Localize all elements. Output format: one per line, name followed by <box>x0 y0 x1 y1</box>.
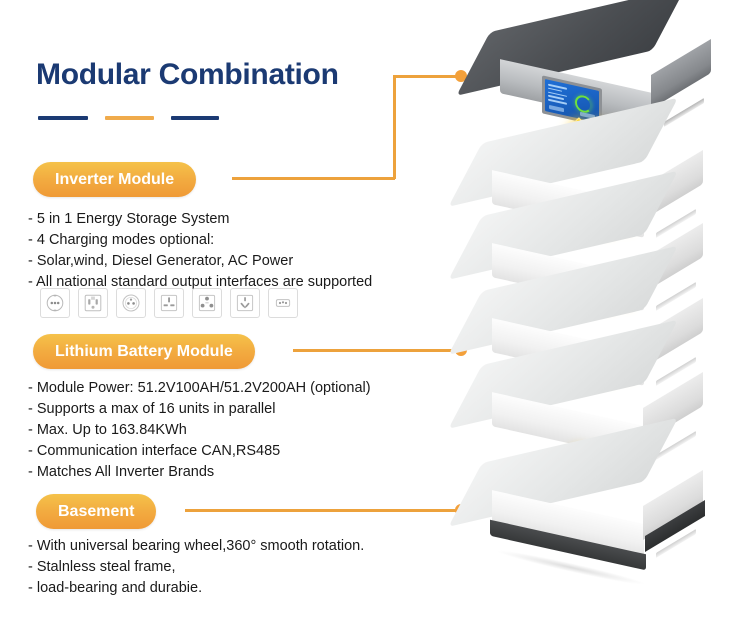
title-rule-group <box>38 116 219 120</box>
product-stack-illustration <box>470 0 750 626</box>
slide-root: Modular Combination Inverter Module - 5 … <box>0 0 750 626</box>
rule-amber-middle <box>105 116 154 120</box>
bullet-line: - Supports a max of 16 units in parallel <box>28 399 371 420</box>
connector-line-horizontal <box>232 177 395 180</box>
bullet-line: - load-bearing and durabie. <box>28 578 364 599</box>
socket-europlug-icon <box>116 288 146 318</box>
socket-nema-icon <box>78 288 108 318</box>
socket-icon-row <box>40 288 298 318</box>
socket-india-icon <box>192 288 222 318</box>
bullet-line: - Max. Up to 163.84KWh <box>28 420 371 441</box>
bullet-line: - 4 Charging modes optional: <box>28 230 372 251</box>
socket-schuko-icon <box>40 288 70 318</box>
rule-navy-left <box>38 116 88 120</box>
bullet-line: - 5 in 1 Energy Storage System <box>28 209 372 230</box>
lcd-text-rows <box>548 84 567 105</box>
section-text-basement: - With universal bearing wheel,360° smoo… <box>28 536 364 599</box>
bullet-line: - With universal bearing wheel,360° smoo… <box>28 536 364 557</box>
bullet-line: - Module Power: 51.2V100AH/51.2V200AH (o… <box>28 378 371 399</box>
bullet-line: - Stalnless steal frame, <box>28 557 364 578</box>
section-badge-inverter[interactable]: Inverter Module <box>33 162 196 197</box>
section-text-inverter: - 5 in 1 Energy Storage System - 4 Charg… <box>28 209 372 293</box>
bullet-line: - Solar,wind, Diesel Generator, AC Power <box>28 251 372 272</box>
content-column: Modular Combination Inverter Module - 5 … <box>0 0 470 626</box>
connector-line-basement <box>185 509 458 512</box>
section-badge-basement[interactable]: Basement <box>36 494 156 529</box>
page-title: Modular Combination <box>36 58 339 92</box>
section-text-battery: - Module Power: 51.2V100AH/51.2V200AH (o… <box>28 378 371 483</box>
basement-unit <box>482 463 714 555</box>
section-badge-battery[interactable]: Lithium Battery Module <box>33 334 255 369</box>
connector-line-battery <box>293 349 458 352</box>
socket-iec-c13-icon <box>268 288 298 318</box>
bullet-line: - Matches All Inverter Brands <box>28 462 371 483</box>
inverter-body <box>490 32 722 124</box>
connector-line-vertical <box>393 75 396 179</box>
inverter-unit <box>490 32 722 124</box>
socket-uk-bs1363-icon <box>154 288 184 318</box>
connector-line-horizontal-top <box>393 75 459 78</box>
rule-navy-right <box>171 116 219 120</box>
socket-universal-icon <box>230 288 260 318</box>
bullet-line: - Communication interface CAN,RS485 <box>28 441 371 462</box>
